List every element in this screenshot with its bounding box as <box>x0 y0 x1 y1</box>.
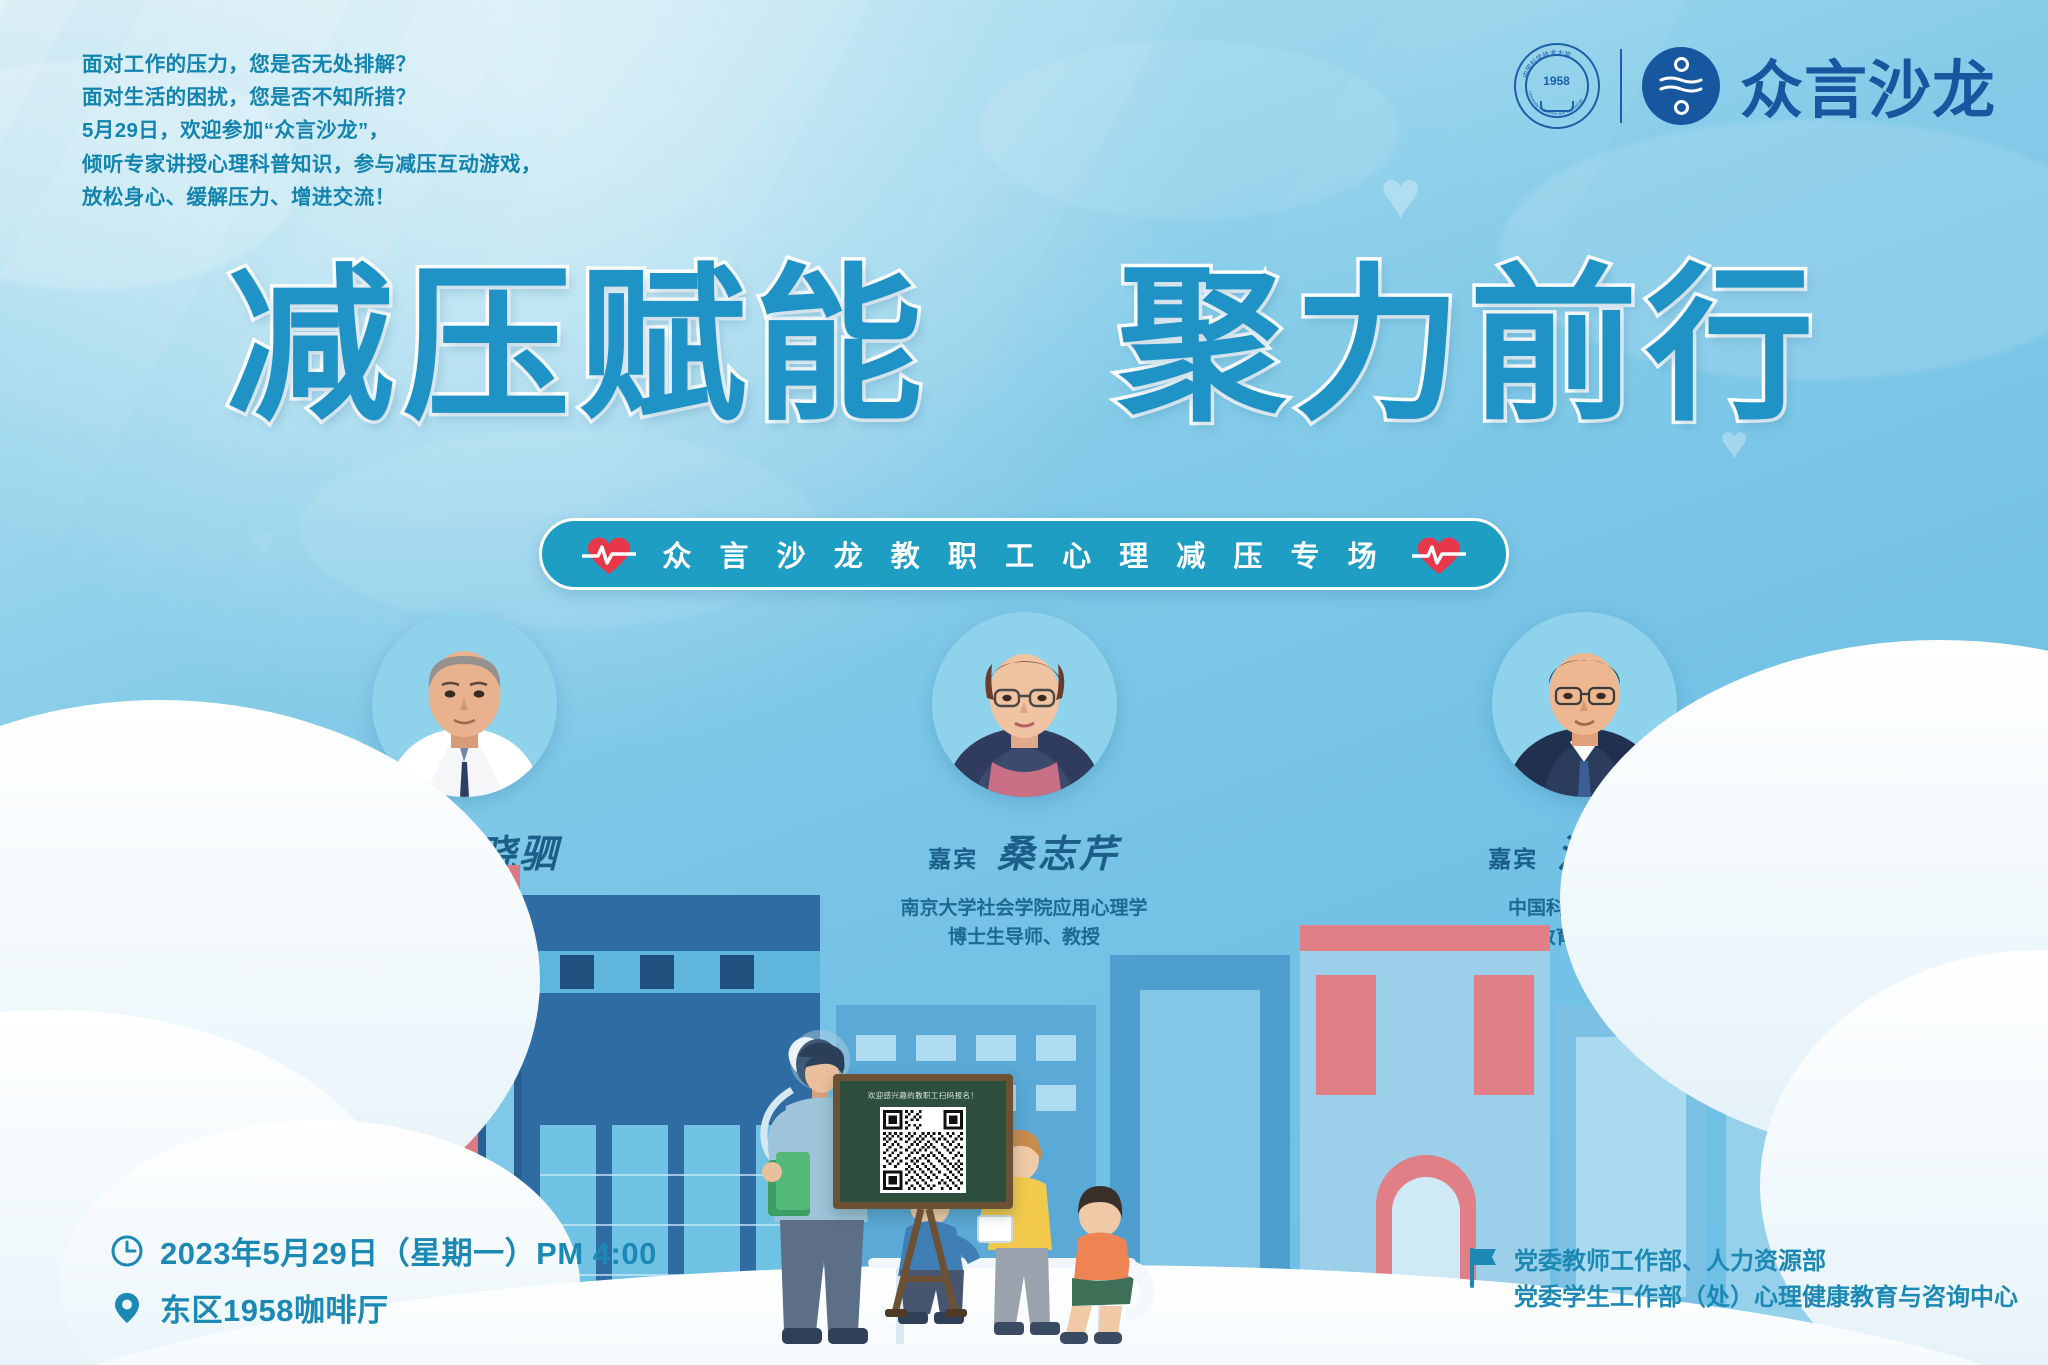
logo-divider <box>1620 49 1623 123</box>
title-right: 聚力前行 <box>1118 248 1822 444</box>
intro-text: 面对工作的压力，您是否无处排解？ 面对生活的困扰，您是否不知所措？ 5月29日，… <box>82 48 542 214</box>
salon-waves-icon <box>1659 76 1703 96</box>
page-title: 减压赋能 聚力前行 <box>0 262 2048 430</box>
organizer-lines: 党委教师工作部、人力资源部 党委学生工作部（处）心理健康教育与咨询中心 <box>1514 1244 2018 1316</box>
salon-emblem-icon <box>1642 47 1720 125</box>
seal-year: 1958 <box>1543 74 1570 88</box>
logo-group: 中国科学技术大学 University of Science and Techn… <box>1514 40 1997 131</box>
people-illustration <box>700 1020 1340 1365</box>
flag-icon <box>1468 1246 1498 1290</box>
event-location: 东区1958咖啡厅 <box>160 1285 388 1330</box>
avatar <box>932 612 1117 797</box>
salon-base-dot-icon <box>1674 100 1689 115</box>
seal-book-icon <box>1540 101 1574 112</box>
heart-watermark-icon: ♥ <box>1380 160 1422 230</box>
event-datetime: 2023年5月29日（星期一）PM 4:00 <box>160 1228 657 1273</box>
heartbeat-icon <box>1412 532 1466 576</box>
ustc-seal-logo: 中国科学技术大学 University of Science and Techn… <box>1514 43 1600 129</box>
heartbeat-icon <box>582 532 636 576</box>
clock-icon <box>110 1234 144 1268</box>
subtitle-text: 众 言 沙 龙 教 职 工 心 理 减 压 专 场 <box>662 533 1385 575</box>
title-left: 减压赋能 <box>227 248 931 444</box>
subtitle-banner-wrap: 众 言 沙 龙 教 职 工 心 理 减 压 专 场 <box>0 518 2048 590</box>
organizer-info: 党委教师工作部、人力资源部 党委学生工作部（处）心理健康教育与咨询中心 <box>1468 1244 2018 1316</box>
event-location-row: 东区1958咖啡厅 <box>110 1285 657 1330</box>
signup-blackboard: 欢迎感兴趣的教职工扫码报名！ <box>833 1074 1013 1209</box>
subtitle-banner: 众 言 沙 龙 教 职 工 心 理 减 压 专 场 <box>539 518 1508 590</box>
blackboard-stand <box>855 1209 995 1319</box>
location-pin-icon <box>110 1291 144 1325</box>
event-datetime-row: 2023年5月29日（星期一）PM 4:00 <box>110 1228 657 1273</box>
signup-caption: 欢迎感兴趣的教职工扫码报名！ <box>868 1090 979 1101</box>
qr-code[interactable] <box>880 1107 966 1193</box>
background-cloud <box>980 40 1400 220</box>
salon-name: 众言沙龙 <box>1740 40 1996 131</box>
salon-head-dot-icon <box>1674 57 1689 72</box>
guest-photo-2 <box>932 612 1117 797</box>
event-info: 2023年5月29日（星期一）PM 4:00 东区1958咖啡厅 <box>110 1228 657 1342</box>
poster-canvas: ♥ ♥ ♥ 面对工作的压力，您是否无处排解？ 面对生活的困扰，您是否不知所措？ … <box>0 0 2048 1365</box>
